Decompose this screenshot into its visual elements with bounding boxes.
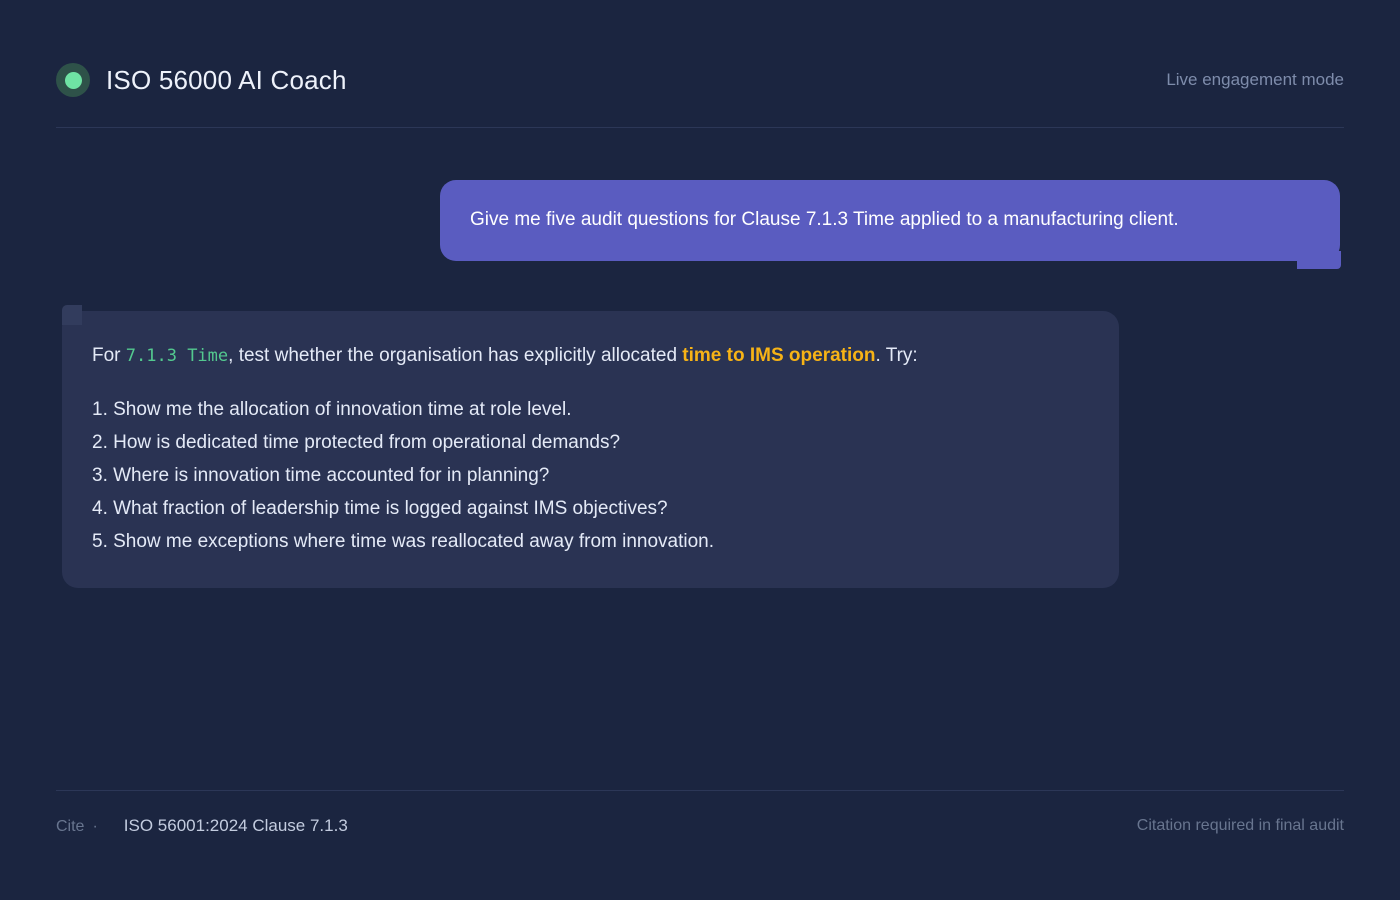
- header-divider: [56, 127, 1344, 128]
- cite-separator: ·: [92, 818, 97, 836]
- clause-code-ref: 7.1.3 Time: [126, 346, 228, 366]
- app-root: ISO 56000 AI Coach Live engagement mode …: [0, 0, 1400, 900]
- app-footer: Cite · ISO 56001:2024 Clause 7.1.3 Citat…: [56, 806, 1344, 846]
- cite-label: Cite: [56, 818, 84, 836]
- intro-prefix: For: [92, 345, 126, 366]
- audit-question-2: 2. How is dedicated time protected from …: [92, 426, 1089, 459]
- brand: ISO 56000 AI Coach: [56, 63, 347, 97]
- user-message-text: Give me five audit questions for Clause …: [470, 209, 1179, 230]
- audit-question-3: 3. Where is innovation time accounted fo…: [92, 459, 1089, 492]
- message-row-assistant: For 7.1.3 Time, test whether the organis…: [0, 261, 1400, 588]
- page-title: ISO 56000 AI Coach: [106, 67, 347, 93]
- assistant-bubble-wrap: For 7.1.3 Time, test whether the organis…: [62, 311, 1119, 588]
- intro-middle: , test whether the organisation has expl…: [228, 345, 682, 366]
- user-message-bubble[interactable]: Give me five audit questions for Clause …: [440, 180, 1340, 261]
- footer-note: Citation required in final audit: [1137, 817, 1344, 835]
- intro-suffix: . Try:: [875, 345, 917, 366]
- audit-question-5: 5. Show me exceptions where time was rea…: [92, 525, 1089, 558]
- audit-question-1: 1. Show me the allocation of innovation …: [92, 393, 1089, 426]
- user-bubble-wrap: Give me five audit questions for Clause …: [440, 180, 1340, 261]
- footer-divider: [56, 790, 1344, 791]
- audit-question-4: 4. What fraction of leadership time is l…: [92, 492, 1089, 525]
- status-dot-icon: [56, 63, 90, 97]
- app-header: ISO 56000 AI Coach Live engagement mode: [56, 50, 1344, 110]
- conversation-thread: Give me five audit questions for Clause …: [0, 150, 1400, 588]
- message-row-user: Give me five audit questions for Clause …: [0, 150, 1400, 261]
- cite-value[interactable]: ISO 56001:2024 Clause 7.1.3: [124, 816, 348, 836]
- citation-group: Cite · ISO 56001:2024 Clause 7.1.3: [56, 816, 348, 836]
- mode-label: Live engagement mode: [1166, 70, 1344, 90]
- intro-highlight: time to IMS operation: [682, 345, 875, 366]
- assistant-bubble-tail-icon: [62, 305, 82, 325]
- assistant-intro-paragraph: For 7.1.3 Time, test whether the organis…: [92, 339, 1089, 373]
- user-bubble-tail-icon: [1297, 251, 1341, 269]
- assistant-message-bubble[interactable]: For 7.1.3 Time, test whether the organis…: [62, 311, 1119, 588]
- status-dot-core: [65, 72, 82, 89]
